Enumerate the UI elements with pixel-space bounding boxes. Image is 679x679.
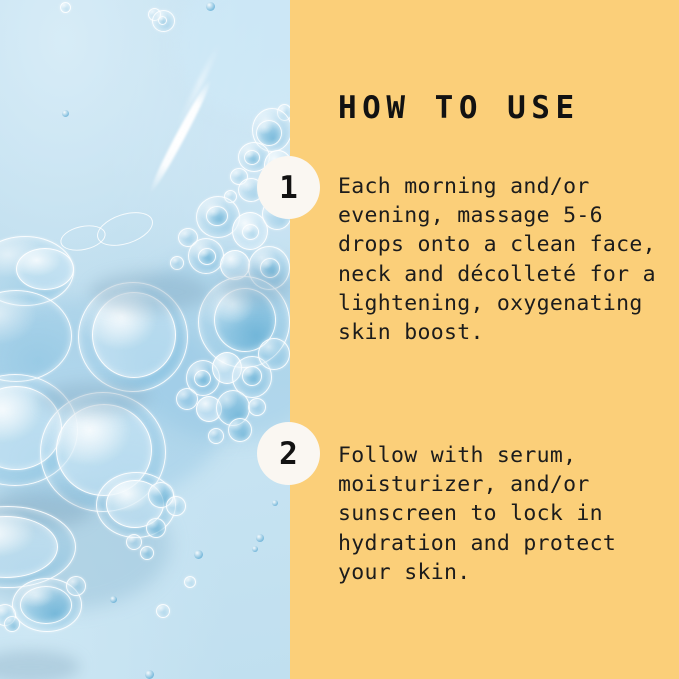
bubble (244, 150, 260, 165)
bubble-dot (252, 546, 258, 552)
step-1-number-badge: 1 (257, 156, 320, 219)
bubble (126, 534, 142, 550)
bubble-dot (110, 596, 117, 603)
bubble (158, 16, 167, 25)
product-texture-photo (0, 0, 290, 679)
bubble (166, 496, 186, 516)
bubble-dot (206, 2, 215, 11)
bubble (258, 338, 290, 370)
bubble (194, 370, 211, 387)
bubble-dot (194, 550, 203, 559)
bubble-dot (145, 670, 154, 679)
step-2-text: Follow with serum, moisturizer, and/or s… (338, 441, 679, 587)
bubble (16, 248, 74, 290)
bubble (208, 428, 224, 444)
bubble-dot (62, 110, 69, 117)
page-title: HOW TO USE (338, 93, 580, 124)
step-1-text: Each morning and/or evening, massage 5-6… (338, 172, 679, 347)
bubble (60, 2, 71, 13)
bubble (66, 576, 86, 596)
bubble (242, 224, 259, 240)
bubble (20, 586, 72, 624)
bubble-shadow (90, 272, 210, 312)
bubble (156, 604, 170, 618)
bubble-dot (272, 500, 278, 506)
bubble (198, 248, 216, 265)
bubble (140, 546, 154, 560)
bubble (242, 366, 262, 386)
bubble (228, 418, 252, 442)
step-2-number-badge: 2 (257, 422, 320, 485)
bubble-shadow (40, 382, 150, 414)
bubble (176, 388, 198, 410)
bubble (146, 518, 166, 538)
bubble (248, 398, 266, 416)
bubble-shadow (218, 270, 290, 304)
bubble (184, 576, 196, 588)
bubble-dot (256, 534, 264, 542)
how-to-use-graphic: HOW TO USE Each morning and/or evening, … (0, 0, 679, 679)
bubble (170, 256, 184, 270)
bubble (4, 616, 20, 632)
bubble (206, 206, 228, 226)
instructions-panel: HOW TO USE Each morning and/or evening, … (290, 0, 679, 679)
